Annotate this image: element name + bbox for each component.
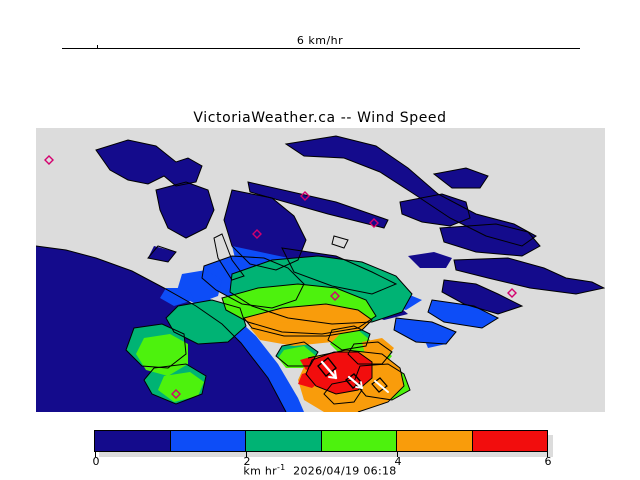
colorbar-wrapper xyxy=(94,430,548,452)
colorbar-segment-4-5 xyxy=(396,431,472,451)
reference-vector-line xyxy=(62,48,580,49)
colorbar xyxy=(94,430,548,452)
colorbar-segment-0-1 xyxy=(95,431,170,451)
colorbar-units-exponent: -1 xyxy=(277,463,286,472)
page-title: VictoriaWeather.ca -- Wind Speed xyxy=(0,110,640,126)
map-canvas xyxy=(36,128,605,412)
map-panel xyxy=(36,128,605,412)
colorbar-units: km hr xyxy=(243,465,277,478)
colorbar-segment-3-4 xyxy=(321,431,397,451)
colorbar-segment-2-3 xyxy=(245,431,321,451)
reference-vector-label: 6 km/hr xyxy=(0,34,640,47)
colorbar-caption: km hr-1 2026/04/19 06:18 xyxy=(0,463,640,478)
colorbar-segment-1-2 xyxy=(170,431,246,451)
timestamp: 2026/04/19 06:18 xyxy=(293,465,396,478)
colorbar-segment-5-6 xyxy=(472,431,548,451)
wind-speed-map-page: 6 km/hr VictoriaWeather.ca -- Wind Speed xyxy=(0,0,640,480)
reference-vector-tick xyxy=(97,45,98,49)
